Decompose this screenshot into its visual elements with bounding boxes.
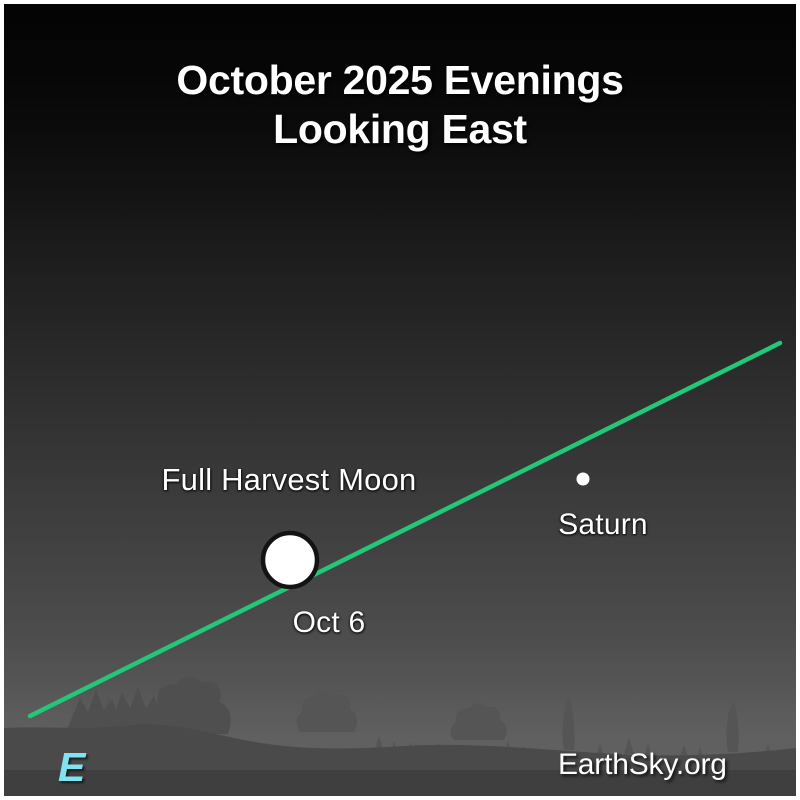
watermark-earthsky: EarthSky.org (558, 748, 727, 782)
direction-marker-east: E (58, 744, 85, 791)
saturn-marker (577, 473, 590, 486)
title-line-1: October 2025 Evenings (4, 56, 796, 105)
chart-frame: October 2025 Evenings Looking East Full … (4, 4, 796, 796)
moon-label: Full Harvest Moon (4, 462, 574, 498)
title-line-2: Looking East (4, 105, 796, 154)
bush-icon (296, 691, 357, 732)
cypress-icon (726, 702, 738, 752)
page-title: October 2025 Evenings Looking East (4, 56, 796, 154)
saturn-label: Saturn (4, 508, 796, 542)
moon-date-label: Oct 6 (4, 606, 654, 640)
bush-icon (450, 703, 506, 740)
sky-chart-image: October 2025 Evenings Looking East Full … (0, 0, 800, 800)
cypress-icon (562, 697, 574, 750)
